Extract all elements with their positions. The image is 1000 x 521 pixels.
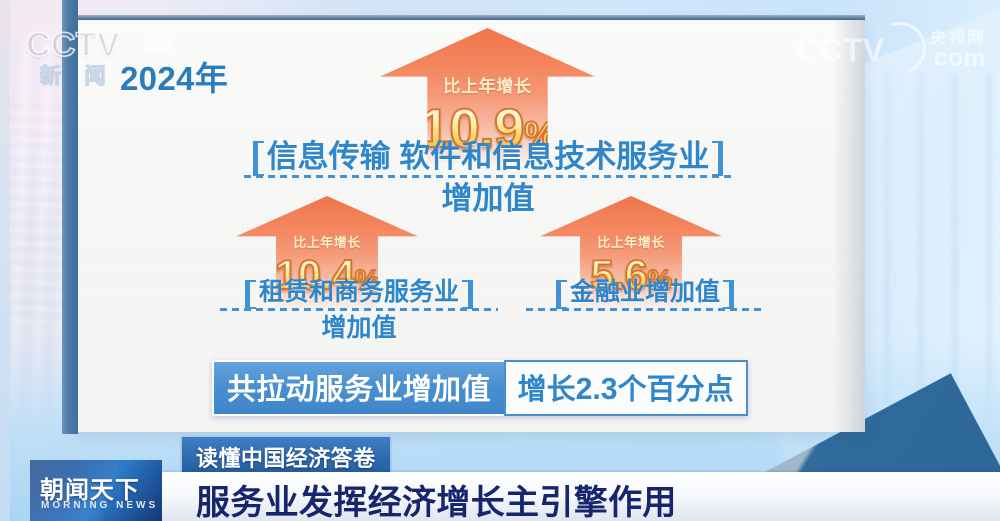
- headline-bar: 服务业发挥经济增长主引擎作用: [162, 472, 1000, 521]
- channel-cn-label: 新 闻: [40, 60, 114, 90]
- headline-text: 服务业发挥经济增长主引擎作用: [196, 475, 677, 521]
- background-left-edge: [0, 0, 10, 521]
- label-dashed-underline: [244, 175, 732, 178]
- label-line2: 增加值: [214, 314, 504, 343]
- label-line1: 金融业增加值: [556, 278, 734, 307]
- label-leasing-business: 租赁和商务服务业 增加值: [214, 278, 504, 343]
- program-name-en: MORNING NEWS: [41, 500, 158, 511]
- program-logo: 朝闻天下 MORNING NEWS: [30, 460, 162, 521]
- arrow-caption: 比上年增长: [293, 232, 361, 251]
- label-dashed-underline: [220, 308, 498, 311]
- year-label: 2024年: [120, 52, 228, 100]
- arrow-caption: 比上年增长: [443, 72, 531, 97]
- label-line1: 信息传输 软件和信息技术服务业: [253, 139, 724, 174]
- arrow-caption: 比上年增长: [597, 232, 665, 251]
- broadcast-frame: CCTV 13 新 闻 2024年 CCTV 央视网 com 比上年增长 10.…: [0, 0, 1000, 521]
- label-finance: 金融业增加值: [520, 278, 770, 314]
- summary-left-text: 共拉动服务业增加值: [212, 360, 504, 416]
- card-right-shading: [832, 20, 865, 432]
- watermark-cctv: CCTV: [796, 32, 884, 69]
- label-line1: 租赁和商务服务业: [245, 278, 473, 307]
- cctv-com-watermark: CCTV 央视网 com: [796, 20, 986, 74]
- summary-right-text: 增长2.3个百分点: [504, 360, 748, 416]
- summary-strip: 共拉动服务业增加值 增长2.3个百分点: [212, 360, 748, 416]
- watermark-arc-icon: [865, 13, 934, 82]
- watermark-com: com: [934, 44, 986, 73]
